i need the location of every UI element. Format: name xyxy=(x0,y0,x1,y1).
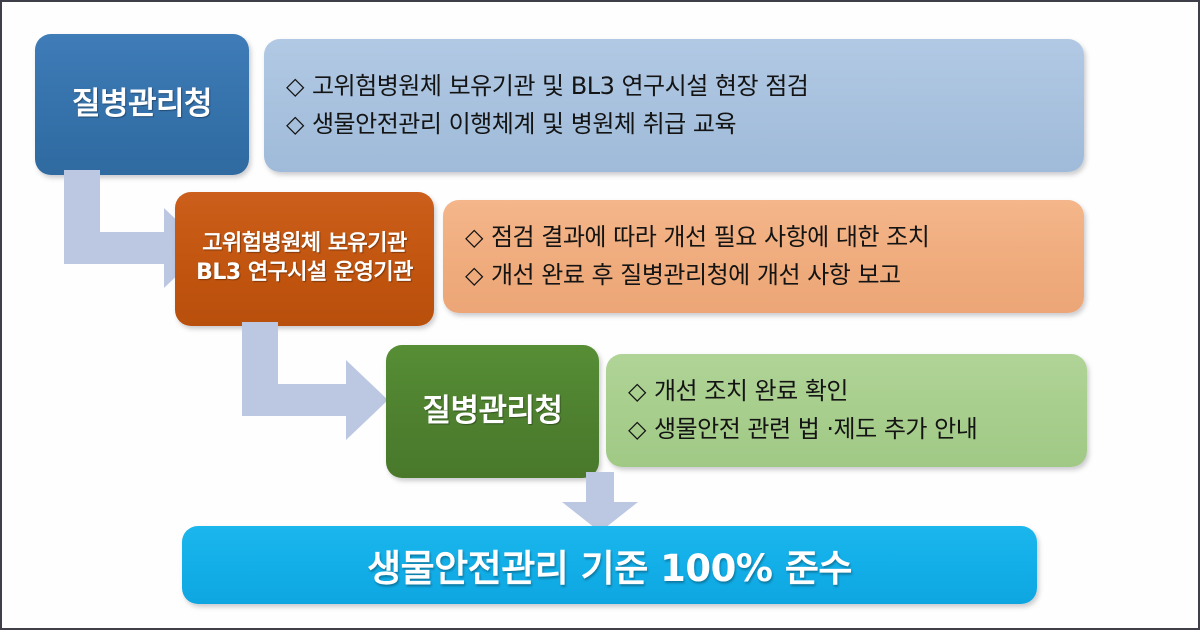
goal-banner: 생물안전관리 기준 100% 준수 xyxy=(182,526,1037,604)
bullet-text: 생물안전관리 이행체계 및 병원체 취급 교육 xyxy=(312,110,736,138)
diagram-canvas: 질병관리청 ◇고위험병원체 보유기관 및 BL3 연구시설 현장 점검 ◇생물안… xyxy=(0,0,1200,630)
goal-banner-text: 생물안전관리 기준 100% 준수 xyxy=(367,538,852,592)
bullet-text: 개선 완료 후 질병관리청에 개선 사항 보고 xyxy=(491,261,901,289)
bullet-text: 점검 결과에 따라 개선 필요 사항에 대한 조치 xyxy=(491,223,929,251)
bullet-line: ◇생물안전 관련 법 ·제도 추가 안내 xyxy=(628,411,977,448)
detail-box-institutions-orange: ◇점검 결과에 따라 개선 필요 사항에 대한 조치 ◇개선 완료 후 질병관리… xyxy=(443,200,1084,313)
bullet-line: ◇점검 결과에 따라 개선 필요 사항에 대한 조치 xyxy=(465,219,929,256)
bullet-text: 개선 조치 완료 확인 xyxy=(654,377,848,405)
actor-box-institutions-orange: 고위험병원체 보유기관 BL3 연구시설 운영기관 xyxy=(175,192,434,326)
actor-label-line2: BL3 연구시설 운영기관 xyxy=(196,259,413,288)
actor-label: 질병관리청 xyxy=(72,84,212,124)
elbow-arrow-down-right-icon xyxy=(238,322,390,444)
arrow-down-icon xyxy=(560,472,640,534)
actor-box-kdca-green: 질병관리청 xyxy=(386,345,599,478)
bullet-line: ◇고위험병원체 보유기관 및 BL3 연구시설 현장 점검 xyxy=(286,68,808,105)
detail-box-kdca-blue: ◇고위험병원체 보유기관 및 BL3 연구시설 현장 점검 ◇생물안전관리 이행… xyxy=(264,39,1084,172)
diamond-bullet-icon: ◇ xyxy=(286,72,304,100)
diamond-bullet-icon: ◇ xyxy=(628,415,646,443)
actor-label: 질병관리청 xyxy=(422,391,562,431)
bullet-line: ◇생물안전관리 이행체계 및 병원체 취급 교육 xyxy=(286,106,808,143)
actor-label-line1: 고위험병원체 보유기관 xyxy=(196,230,413,259)
bullet-line: ◇개선 조치 완료 확인 xyxy=(628,373,977,410)
actor-box-kdca-blue: 질병관리청 xyxy=(35,34,249,175)
diamond-bullet-icon: ◇ xyxy=(465,223,483,251)
bullet-line: ◇개선 완료 후 질병관리청에 개선 사항 보고 xyxy=(465,257,929,294)
detail-box-kdca-green: ◇개선 조치 완료 확인 ◇생물안전 관련 법 ·제도 추가 안내 xyxy=(606,354,1087,467)
diamond-bullet-icon: ◇ xyxy=(286,110,304,138)
bullet-text: 고위험병원체 보유기관 및 BL3 연구시설 현장 점검 xyxy=(312,72,808,100)
diamond-bullet-icon: ◇ xyxy=(628,377,646,405)
diamond-bullet-icon: ◇ xyxy=(465,261,483,289)
bullet-text: 생물안전 관련 법 ·제도 추가 안내 xyxy=(654,415,977,443)
